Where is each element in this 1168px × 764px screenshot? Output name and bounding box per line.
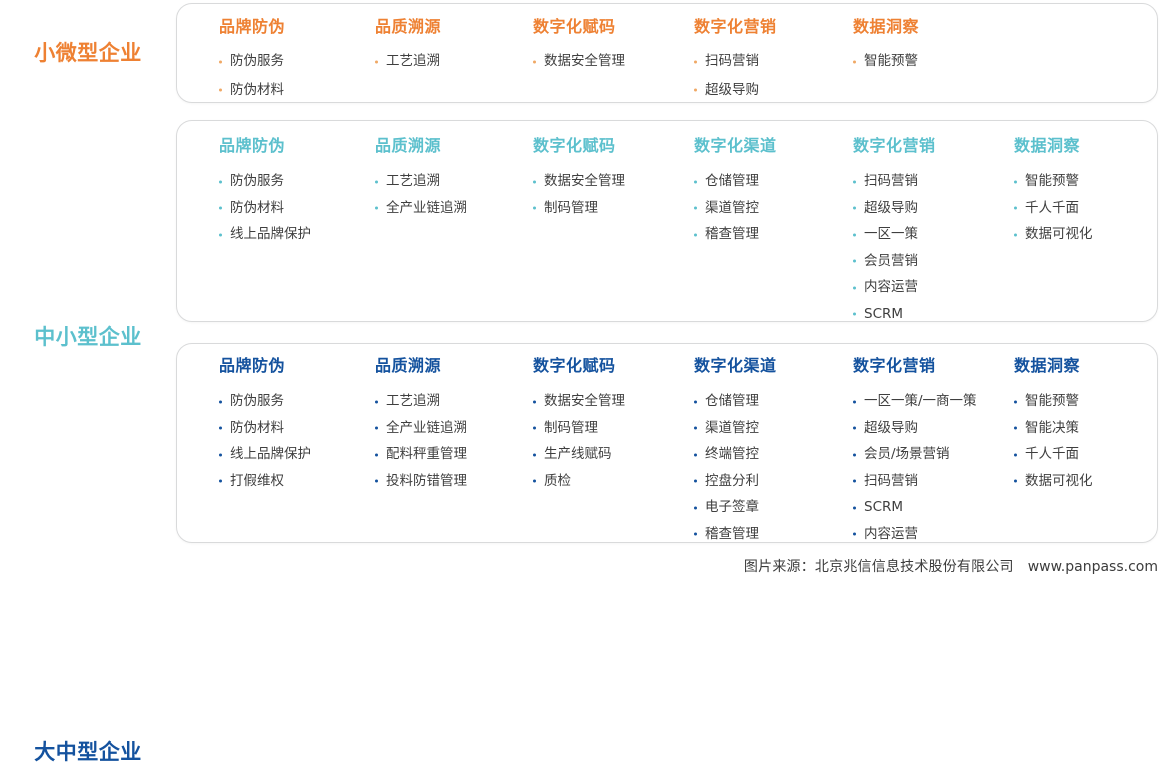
capability-item-label: 制码管理 bbox=[544, 420, 598, 436]
column-title: 数字化营销 bbox=[853, 358, 977, 374]
footer-attribution: 图片来源：北京兆信信息技术股份有限公司www.panpass.com bbox=[744, 556, 1158, 576]
capability-list: 仓储管理渠道管控终端管控控盘分利电子签章稽查管理 bbox=[694, 395, 777, 541]
capability-column: 数据洞察智能预警 bbox=[853, 19, 919, 84]
bullet-icon bbox=[694, 180, 697, 183]
capability-list: 工艺追溯全产业链追溯 bbox=[375, 175, 467, 215]
bullet-icon bbox=[694, 533, 697, 536]
capability-column: 数字化营销扫码营销超级导购一区一策会员营销内容运营SCRM bbox=[853, 138, 936, 334]
bullet-icon bbox=[694, 480, 697, 483]
capability-item-label: 控盘分利 bbox=[705, 473, 759, 489]
bullet-icon bbox=[853, 533, 856, 536]
capability-item-label: 投料防错管理 bbox=[386, 473, 467, 489]
capability-item-label: 防伪服务 bbox=[230, 173, 284, 189]
capability-item-label: 打假维权 bbox=[230, 473, 284, 489]
capability-item-label: 制码管理 bbox=[544, 200, 598, 216]
bullet-icon bbox=[694, 89, 697, 92]
capability-item: 投料防错管理 bbox=[375, 475, 467, 489]
column-title: 品牌防伪 bbox=[219, 138, 311, 154]
column-title: 数字化赋码 bbox=[533, 19, 625, 35]
capability-item-label: 稽查管理 bbox=[705, 226, 759, 242]
capability-item-label: 防伪材料 bbox=[230, 200, 284, 216]
capability-item: 智能预警 bbox=[853, 55, 919, 69]
bullet-icon bbox=[219, 453, 222, 456]
capability-item: 打假维权 bbox=[219, 475, 311, 489]
capability-item-label: 扫码营销 bbox=[864, 473, 918, 489]
column-container: 品牌防伪防伪服务防伪材料线上品牌保护打假维权品质溯源工艺追溯全产业链追溯配料秤重… bbox=[177, 344, 1157, 542]
capability-list: 仓储管理渠道管控稽查管理 bbox=[694, 175, 777, 242]
capability-list: 数据安全管理制码管理生产线赋码质检 bbox=[533, 395, 625, 488]
bullet-icon bbox=[694, 60, 697, 63]
bullet-icon bbox=[853, 453, 856, 456]
capability-item-label: 全产业链追溯 bbox=[386, 420, 467, 436]
capability-column: 品牌防伪防伪服务防伪材料线上品牌保护 bbox=[219, 138, 311, 255]
capability-item-label: 千人千面 bbox=[1025, 200, 1079, 216]
tier-card-medium-small: 品牌防伪防伪服务防伪材料线上品牌保护品质溯源工艺追溯全产业链追溯数字化赋码数据安… bbox=[176, 120, 1158, 322]
capability-item: 生产线赋码 bbox=[533, 448, 625, 462]
capability-column: 数字化赋码数据安全管理制码管理生产线赋码质检 bbox=[533, 358, 625, 501]
capability-column: 品牌防伪防伪服务防伪材料线上品牌保护打假维权 bbox=[219, 358, 311, 501]
capability-item-label: 超级导购 bbox=[705, 82, 759, 98]
column-container: 品牌防伪防伪服务防伪材料品质溯源工艺追溯数字化赋码数据安全管理数字化营销扫码营销… bbox=[177, 4, 1157, 102]
capability-item: 电子签章 bbox=[694, 501, 777, 515]
capability-item-label: 终端管控 bbox=[705, 446, 759, 462]
capability-item: 智能决策 bbox=[1014, 422, 1093, 436]
capability-column: 品质溯源工艺追溯全产业链追溯配料秤重管理投料防错管理 bbox=[375, 358, 467, 501]
bullet-icon bbox=[853, 180, 856, 183]
capability-item-label: 仓储管理 bbox=[705, 173, 759, 189]
bullet-icon bbox=[853, 233, 856, 236]
capability-item-label: 防伪材料 bbox=[230, 420, 284, 436]
capability-list: 数据安全管理 bbox=[533, 55, 625, 69]
capability-item-label: 内容运营 bbox=[864, 526, 918, 542]
capability-item: 智能预警 bbox=[1014, 395, 1093, 409]
bullet-icon bbox=[533, 207, 536, 210]
capability-item: 稽查管理 bbox=[694, 228, 777, 242]
bullet-icon bbox=[219, 480, 222, 483]
capability-item-label: 智能决策 bbox=[1025, 420, 1079, 436]
bullet-icon bbox=[219, 89, 222, 92]
bullet-icon bbox=[219, 233, 222, 236]
tier-label-small-micro: 小微型企业 bbox=[8, 42, 168, 65]
bullet-icon bbox=[694, 400, 697, 403]
bullet-icon bbox=[853, 207, 856, 210]
tier-label-large-medium: 大中型企业 bbox=[8, 741, 168, 764]
bullet-icon bbox=[533, 180, 536, 183]
capability-item-label: 智能预警 bbox=[864, 53, 918, 69]
capability-item-label: 会员营销 bbox=[864, 253, 918, 269]
bullet-icon bbox=[375, 400, 378, 403]
bullet-icon bbox=[1014, 400, 1017, 403]
column-title: 数字化营销 bbox=[853, 138, 936, 154]
capability-column: 品质溯源工艺追溯全产业链追溯 bbox=[375, 138, 467, 228]
capability-item: 渠道管控 bbox=[694, 202, 777, 216]
bullet-icon bbox=[219, 400, 222, 403]
bullet-icon bbox=[694, 207, 697, 210]
bullet-icon bbox=[853, 313, 856, 316]
bullet-icon bbox=[694, 453, 697, 456]
capability-item: 防伪服务 bbox=[219, 395, 311, 409]
capability-item: 扫码营销 bbox=[694, 55, 777, 69]
footer-website: www.panpass.com bbox=[1028, 559, 1158, 575]
capability-list: 工艺追溯全产业链追溯配料秤重管理投料防错管理 bbox=[375, 395, 467, 488]
capability-list: 扫码营销超级导购一区一策会员营销内容运营SCRM bbox=[853, 175, 936, 321]
bullet-icon bbox=[853, 480, 856, 483]
capability-item: 渠道管控 bbox=[694, 422, 777, 436]
bullet-icon bbox=[375, 207, 378, 210]
capability-list: 智能预警千人千面数据可视化 bbox=[1014, 175, 1093, 242]
bullet-icon bbox=[219, 180, 222, 183]
capability-column: 数据洞察智能预警千人千面数据可视化 bbox=[1014, 138, 1093, 255]
capability-item-label: 线上品牌保护 bbox=[230, 446, 311, 462]
bullet-icon bbox=[375, 427, 378, 430]
capability-list: 防伪服务防伪材料 bbox=[219, 55, 285, 97]
bullet-icon bbox=[1014, 453, 1017, 456]
capability-item: 扫码营销 bbox=[853, 175, 936, 189]
capability-item: 终端管控 bbox=[694, 448, 777, 462]
capability-item: 内容运营 bbox=[853, 281, 936, 295]
capability-item-label: 数据可视化 bbox=[1025, 473, 1093, 489]
capability-item: 千人千面 bbox=[1014, 202, 1093, 216]
capability-item: 制码管理 bbox=[533, 422, 625, 436]
capability-item: 线上品牌保护 bbox=[219, 448, 311, 462]
capability-item: 超级导购 bbox=[853, 422, 977, 436]
capability-item-label: 会员/场景营销 bbox=[864, 446, 950, 462]
capability-item-label: 超级导购 bbox=[864, 420, 918, 436]
capability-item: 防伪材料 bbox=[219, 84, 285, 98]
capability-item-label: 渠道管控 bbox=[705, 420, 759, 436]
column-title: 品质溯源 bbox=[375, 19, 441, 35]
bullet-icon bbox=[219, 427, 222, 430]
bullet-icon bbox=[533, 60, 536, 63]
capability-item: 仓储管理 bbox=[694, 175, 777, 189]
capability-item: SCRM bbox=[853, 501, 977, 515]
capability-list: 扫码营销超级导购 bbox=[694, 55, 777, 97]
capability-item: 全产业链追溯 bbox=[375, 422, 467, 436]
capability-item: 防伪材料 bbox=[219, 202, 311, 216]
bullet-icon bbox=[1014, 427, 1017, 430]
capability-column: 数字化赋码数据安全管理 bbox=[533, 19, 625, 84]
tier-row-small-micro: 小微型企业 品牌防伪防伪服务防伪材料品质溯源工艺追溯数字化赋码数据安全管理数字化… bbox=[0, 0, 1168, 120]
column-title: 数字化营销 bbox=[694, 19, 777, 35]
column-title: 数字化赋码 bbox=[533, 358, 625, 374]
capability-item-label: 防伪服务 bbox=[230, 53, 284, 69]
column-title: 数据洞察 bbox=[1014, 358, 1093, 374]
capability-item-label: 线上品牌保护 bbox=[230, 226, 311, 242]
capability-item-label: 配料秤重管理 bbox=[386, 446, 467, 462]
capability-item-label: 一区一策 bbox=[864, 226, 918, 242]
capability-item: 一区一策 bbox=[853, 228, 936, 242]
bullet-icon bbox=[533, 480, 536, 483]
bullet-icon bbox=[219, 60, 222, 63]
capability-list: 数据安全管理制码管理 bbox=[533, 175, 625, 215]
column-title: 数据洞察 bbox=[1014, 138, 1093, 154]
capability-item-label: 防伪服务 bbox=[230, 393, 284, 409]
bullet-icon bbox=[1014, 233, 1017, 236]
capability-item-label: 智能预警 bbox=[1025, 393, 1079, 409]
capability-column: 数字化营销一区一策/一商一策超级导购会员/场景营销扫码营销SCRM内容运营 bbox=[853, 358, 977, 554]
capability-item: 质检 bbox=[533, 475, 625, 489]
capability-item: 防伪服务 bbox=[219, 55, 285, 69]
capability-item: 线上品牌保护 bbox=[219, 228, 311, 242]
bullet-icon bbox=[694, 233, 697, 236]
capability-item: 千人千面 bbox=[1014, 448, 1093, 462]
column-title: 数字化渠道 bbox=[694, 358, 777, 374]
capability-item: 超级导购 bbox=[853, 202, 936, 216]
capability-item: 数据可视化 bbox=[1014, 228, 1093, 242]
column-title: 数字化赋码 bbox=[533, 138, 625, 154]
capability-item-label: 扫码营销 bbox=[864, 173, 918, 189]
capability-list: 一区一策/一商一策超级导购会员/场景营销扫码营销SCRM内容运营 bbox=[853, 395, 977, 541]
capability-item-label: 生产线赋码 bbox=[544, 446, 612, 462]
tier-row-medium-small: 中小型企业 品牌防伪防伪服务防伪材料线上品牌保护品质溯源工艺追溯全产业链追溯数字… bbox=[0, 120, 1168, 335]
capability-item-label: 扫码营销 bbox=[705, 53, 759, 69]
bullet-icon bbox=[533, 400, 536, 403]
capability-item-label: 内容运营 bbox=[864, 279, 918, 295]
capability-item: 扫码营销 bbox=[853, 475, 977, 489]
bullet-icon bbox=[853, 286, 856, 289]
capability-item: 仓储管理 bbox=[694, 395, 777, 409]
capability-item-label: 电子签章 bbox=[705, 499, 759, 515]
bullet-icon bbox=[853, 400, 856, 403]
tier-row-large-medium: 大中型企业 品牌防伪防伪服务防伪材料线上品牌保护打假维权品质溯源工艺追溯全产业链… bbox=[0, 335, 1168, 550]
column-title: 品牌防伪 bbox=[219, 358, 311, 374]
capability-item: 工艺追溯 bbox=[375, 55, 441, 69]
capability-item: 制码管理 bbox=[533, 202, 625, 216]
bullet-icon bbox=[375, 60, 378, 63]
capability-item: 防伪材料 bbox=[219, 422, 311, 436]
column-title: 品质溯源 bbox=[375, 138, 467, 154]
column-title: 品牌防伪 bbox=[219, 19, 285, 35]
capability-item: 工艺追溯 bbox=[375, 395, 467, 409]
capability-item-label: SCRM bbox=[864, 499, 903, 515]
bullet-icon bbox=[853, 260, 856, 263]
capability-list: 防伪服务防伪材料线上品牌保护打假维权 bbox=[219, 395, 311, 488]
capability-item-label: SCRM bbox=[864, 306, 903, 322]
capability-column: 数据洞察智能预警智能决策千人千面数据可视化 bbox=[1014, 358, 1093, 501]
capability-item-label: 一区一策/一商一策 bbox=[864, 393, 977, 409]
bullet-icon bbox=[375, 180, 378, 183]
capability-item: 一区一策/一商一策 bbox=[853, 395, 977, 409]
bullet-icon bbox=[694, 506, 697, 509]
capability-item: 全产业链追溯 bbox=[375, 202, 467, 216]
capability-item: 内容运营 bbox=[853, 528, 977, 542]
capability-item-label: 数据安全管理 bbox=[544, 393, 625, 409]
capability-item: 工艺追溯 bbox=[375, 175, 467, 189]
capability-item-label: 数据安全管理 bbox=[544, 53, 625, 69]
capability-matrix-board: 小微型企业 品牌防伪防伪服务防伪材料品质溯源工艺追溯数字化赋码数据安全管理数字化… bbox=[0, 0, 1168, 582]
tier-card-large-medium: 品牌防伪防伪服务防伪材料线上品牌保护打假维权品质溯源工艺追溯全产业链追溯配料秤重… bbox=[176, 343, 1158, 543]
bullet-icon bbox=[853, 60, 856, 63]
capability-item: 配料秤重管理 bbox=[375, 448, 467, 462]
capability-list: 工艺追溯 bbox=[375, 55, 441, 69]
column-container: 品牌防伪防伪服务防伪材料线上品牌保护品质溯源工艺追溯全产业链追溯数字化赋码数据安… bbox=[177, 121, 1157, 321]
capability-list: 智能预警 bbox=[853, 55, 919, 69]
footer-source-text: 图片来源：北京兆信信息技术股份有限公司 bbox=[744, 559, 1014, 575]
capability-column: 数字化渠道仓储管理渠道管控终端管控控盘分利电子签章稽查管理 bbox=[694, 358, 777, 554]
column-title: 数字化渠道 bbox=[694, 138, 777, 154]
capability-item: 会员/场景营销 bbox=[853, 448, 977, 462]
bullet-icon bbox=[853, 427, 856, 430]
capability-item: 会员营销 bbox=[853, 255, 936, 269]
capability-item-label: 智能预警 bbox=[1025, 173, 1079, 189]
capability-item-label: 防伪材料 bbox=[230, 82, 284, 98]
capability-item: 数据安全管理 bbox=[533, 55, 625, 69]
capability-item: SCRM bbox=[853, 308, 936, 322]
capability-item: 数据安全管理 bbox=[533, 175, 625, 189]
capability-item-label: 渠道管控 bbox=[705, 200, 759, 216]
capability-column: 品质溯源工艺追溯 bbox=[375, 19, 441, 84]
capability-item-label: 仓储管理 bbox=[705, 393, 759, 409]
capability-list: 防伪服务防伪材料线上品牌保护 bbox=[219, 175, 311, 242]
bullet-icon bbox=[1014, 207, 1017, 210]
capability-item: 数据安全管理 bbox=[533, 395, 625, 409]
capability-item: 智能预警 bbox=[1014, 175, 1093, 189]
capability-item: 控盘分利 bbox=[694, 475, 777, 489]
capability-item-label: 工艺追溯 bbox=[386, 173, 440, 189]
capability-item-label: 质检 bbox=[544, 473, 571, 489]
bullet-icon bbox=[694, 427, 697, 430]
capability-column: 数字化渠道仓储管理渠道管控稽查管理 bbox=[694, 138, 777, 255]
tier-card-small-micro: 品牌防伪防伪服务防伪材料品质溯源工艺追溯数字化赋码数据安全管理数字化营销扫码营销… bbox=[176, 3, 1158, 103]
capability-item-label: 超级导购 bbox=[864, 200, 918, 216]
bullet-icon bbox=[375, 480, 378, 483]
column-title: 数据洞察 bbox=[853, 19, 919, 35]
capability-item-label: 数据安全管理 bbox=[544, 173, 625, 189]
capability-item-label: 全产业链追溯 bbox=[386, 200, 467, 216]
bullet-icon bbox=[853, 506, 856, 509]
capability-item-label: 稽查管理 bbox=[705, 526, 759, 542]
column-title: 品质溯源 bbox=[375, 358, 467, 374]
bullet-icon bbox=[1014, 180, 1017, 183]
capability-column: 数字化赋码数据安全管理制码管理 bbox=[533, 138, 625, 228]
capability-column: 数字化营销扫码营销超级导购 bbox=[694, 19, 777, 112]
capability-item-label: 千人千面 bbox=[1025, 446, 1079, 462]
capability-item: 稽查管理 bbox=[694, 528, 777, 542]
capability-item: 超级导购 bbox=[694, 84, 777, 98]
bullet-icon bbox=[219, 207, 222, 210]
capability-item: 防伪服务 bbox=[219, 175, 311, 189]
capability-item-label: 工艺追溯 bbox=[386, 393, 440, 409]
capability-list: 智能预警智能决策千人千面数据可视化 bbox=[1014, 395, 1093, 488]
bullet-icon bbox=[375, 453, 378, 456]
capability-item-label: 数据可视化 bbox=[1025, 226, 1093, 242]
capability-item: 数据可视化 bbox=[1014, 475, 1093, 489]
bullet-icon bbox=[1014, 480, 1017, 483]
bullet-icon bbox=[533, 427, 536, 430]
bullet-icon bbox=[533, 453, 536, 456]
capability-item-label: 工艺追溯 bbox=[386, 53, 440, 69]
capability-column: 品牌防伪防伪服务防伪材料 bbox=[219, 19, 285, 112]
